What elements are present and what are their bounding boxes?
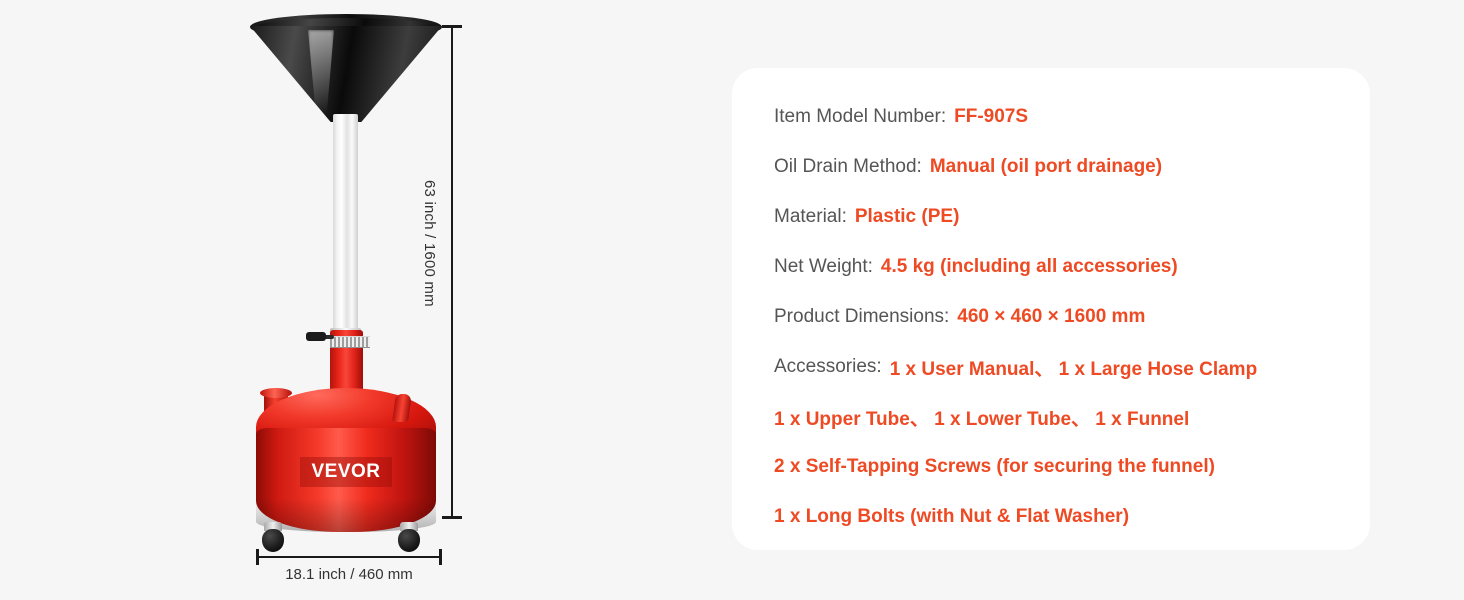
accessory-text: 2 x Self-Tapping Screws (for securing th… [774, 456, 1215, 478]
accessory-text: 1 x Upper Tube、 1 x Lower Tube、 1 x Funn… [774, 404, 1189, 431]
brand-logo-plate: VEVOR [300, 457, 392, 487]
spec-label: Item Model Number: [774, 106, 946, 128]
width-dimension-cap-left [256, 549, 259, 565]
spec-row-accessories: Accessories: 1 x User Manual、 1 x Large … [774, 342, 1370, 392]
spec-row-net-weight: Net Weight: 4.5 kg (including all access… [774, 242, 1370, 292]
height-dimension-line [451, 26, 453, 518]
accessory-line-bolts: 1 x Long Bolts (with Nut & Flat Washer) [774, 492, 1370, 542]
spec-label: Net Weight: [774, 256, 873, 278]
spec-value: 460 × 460 × 1600 mm [957, 306, 1145, 328]
spec-value: 1 x User Manual、 1 x Large Hose Clamp [890, 354, 1257, 381]
spec-label: Oil Drain Method: [774, 156, 922, 178]
height-dimension-cap-top [442, 25, 462, 28]
accessory-text: 1 x Long Bolts (with Nut & Flat Washer) [774, 506, 1129, 528]
height-dimension-cap-bottom [442, 516, 462, 519]
spec-row-material: Material: Plastic (PE) [774, 192, 1370, 242]
accessory-line-screws: 2 x Self-Tapping Screws (for securing th… [774, 442, 1370, 492]
caster-wheel [398, 529, 420, 552]
product-illustration: VEVOR [246, 14, 446, 544]
accessory-line-tubes: 1 x Upper Tube、 1 x Lower Tube、 1 x Funn… [774, 392, 1370, 442]
width-dimension-line [256, 556, 442, 558]
spec-label: Accessories: [774, 356, 882, 378]
caster-wheel-right [398, 522, 420, 552]
caster-wheel [262, 529, 284, 552]
spec-label: Product Dimensions: [774, 306, 949, 328]
height-dimension-label: 63 inch / 1600 mm [421, 180, 438, 307]
spec-row-model: Item Model Number: FF-907S [774, 92, 1370, 142]
brand-logo-text: VEVOR [311, 461, 380, 483]
telescoping-tube [333, 114, 358, 329]
product-figure: VEVOR 63 inch / 1600 mm 18.1 inch / 460 … [0, 0, 720, 600]
spec-label: Material: [774, 206, 847, 228]
spec-value: 4.5 kg (including all accessories) [881, 256, 1178, 278]
spec-value: FF-907S [954, 106, 1028, 128]
spec-row-dimensions: Product Dimensions: 460 × 460 × 1600 mm [774, 292, 1370, 342]
width-dimension-label: 18.1 inch / 460 mm [256, 566, 442, 583]
spec-value: Plastic (PE) [855, 206, 960, 228]
specification-card: Item Model Number: FF-907S Oil Drain Met… [732, 68, 1370, 550]
hose-clamp-band [330, 336, 370, 348]
spec-value: Manual (oil port drainage) [930, 156, 1162, 178]
caster-wheel-left [262, 522, 284, 552]
spec-row-drain-method: Oil Drain Method: Manual (oil port drain… [774, 142, 1370, 192]
clamp-knob [306, 332, 326, 341]
width-dimension-cap-right [439, 549, 442, 565]
funnel-cone [250, 26, 442, 122]
